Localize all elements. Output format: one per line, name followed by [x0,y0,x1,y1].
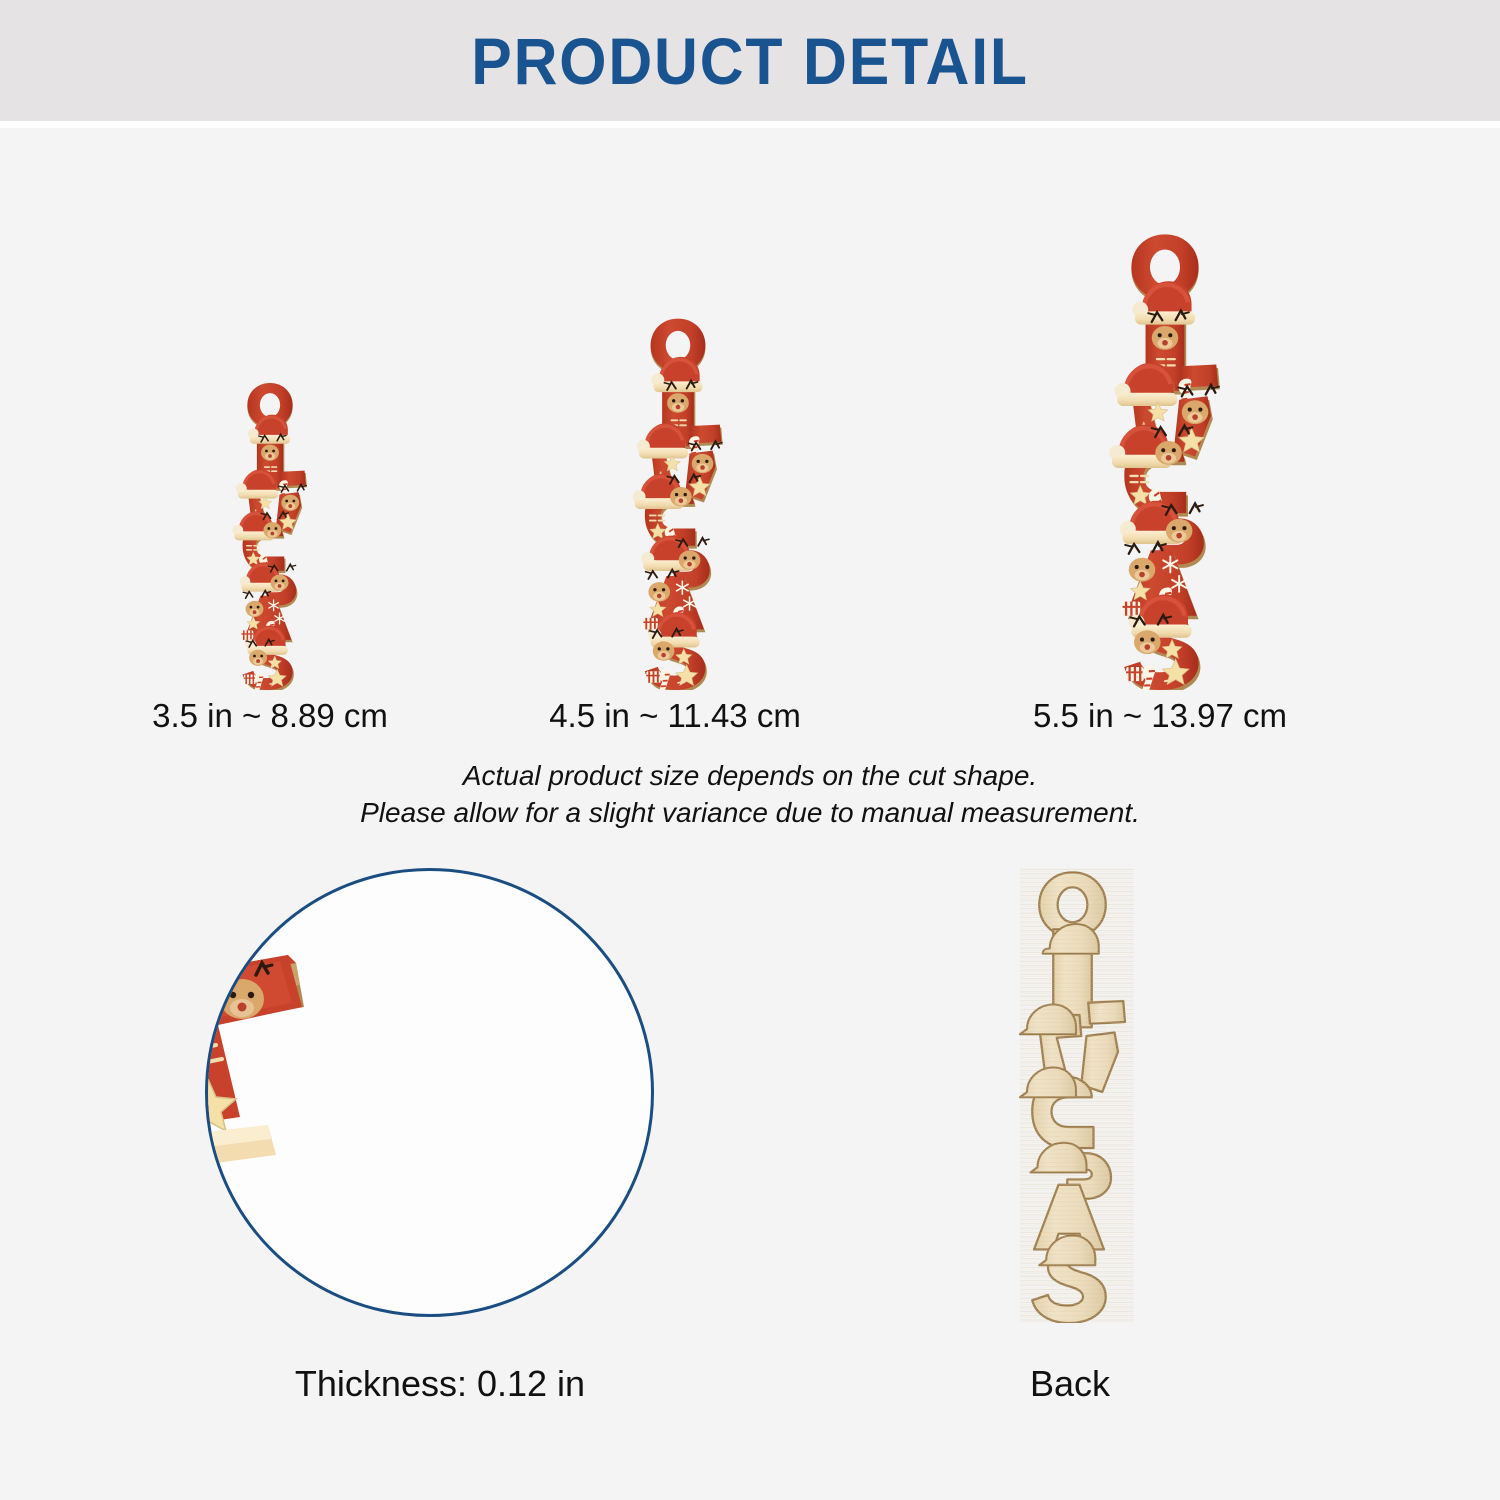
disclaimer-line-2: Please allow for a slight variance due t… [0,794,1500,831]
ornament-edge-closeup [205,911,420,1281]
ornament-art-back [985,868,1160,1323]
ornament-art-small [205,380,335,690]
header-divider [0,121,1500,128]
back-caption: Back [900,1358,1240,1410]
ornament-front-medium [595,315,760,690]
thickness-detail-block [205,868,660,1323]
disclaimer-line-1: Actual product size depends on the cut s… [0,757,1500,794]
thickness-magnifier-circle [205,868,654,1317]
size-label-medium: 4.5 in ~ 11.43 cm [520,694,830,738]
size-label-large: 5.5 in ~ 13.97 cm [1000,694,1320,738]
size-comparison-row [0,150,1500,690]
ornament-front-small [195,380,345,690]
ornament-back-block [985,868,1160,1323]
ornament-front-large [1075,230,1255,690]
thickness-caption: Thickness: 0.12 in [190,1358,690,1410]
size-disclaimer: Actual product size depends on the cut s… [0,757,1500,831]
ornament-art-medium [602,315,754,690]
page-title: PRODUCT DETAIL [471,28,1029,94]
size-label-small: 3.5 in ~ 8.89 cm [120,694,420,738]
page-header: PRODUCT DETAIL [0,0,1500,121]
bottom-captions: Thickness: 0.12 in Back [0,1358,1500,1418]
size-labels: 3.5 in ~ 8.89 cm 4.5 in ~ 11.43 cm 5.5 i… [0,694,1500,740]
ornament-art-large [1075,230,1255,690]
